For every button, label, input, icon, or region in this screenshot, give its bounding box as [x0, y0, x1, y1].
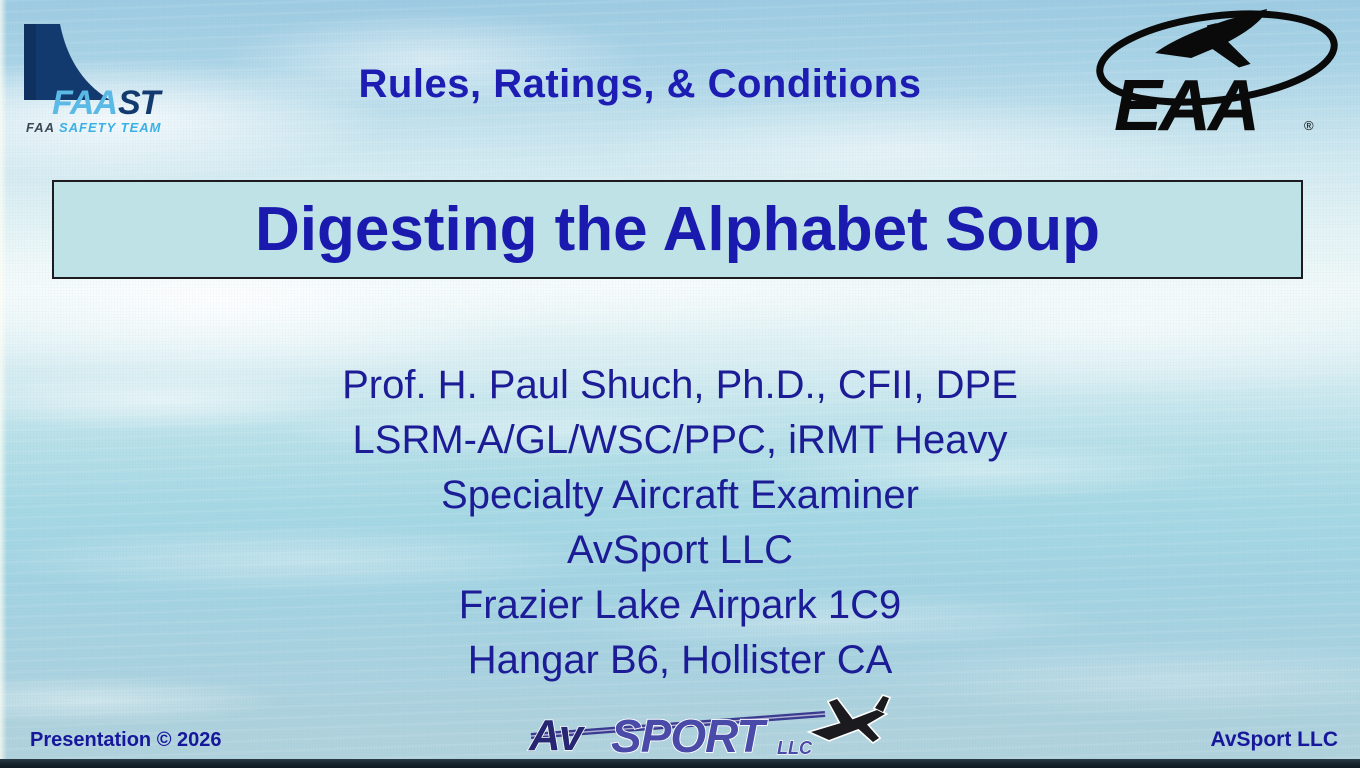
- airplane-icon: [811, 696, 889, 742]
- presenter-line: Frazier Lake Airpark 1C9: [0, 578, 1360, 633]
- svg-text:SAFETY TEAM: SAFETY TEAM: [59, 120, 162, 135]
- main-title: Digesting the Alphabet Soup: [255, 199, 1100, 261]
- avsport-logo: Av SPORT LLC: [525, 692, 915, 762]
- presenter-line: Specialty Aircraft Examiner: [0, 468, 1360, 523]
- svg-text:ST: ST: [118, 84, 164, 122]
- main-title-box: Digesting the Alphabet Soup: [52, 180, 1303, 279]
- presenter-line: Hangar B6, Hollister CA: [0, 633, 1360, 688]
- svg-text:FAA: FAA: [52, 84, 117, 122]
- svg-text:FAA: FAA: [26, 120, 55, 135]
- footer-copyright: Presentation © 2026: [30, 729, 221, 752]
- presenter-details: Prof. H. Paul Shuch, Ph.D., CFII, DPE LS…: [0, 358, 1360, 688]
- svg-text:Av: Av: [528, 711, 586, 760]
- svg-text:LLC: LLC: [777, 738, 813, 758]
- svg-text:EAA: EAA: [1114, 66, 1257, 140]
- faast-logo: FAA ST FAA SAFETY TEAM: [14, 16, 186, 136]
- presenter-line: LSRM-A/GL/WSC/PPC, iRMT Heavy: [0, 413, 1360, 468]
- header-title: Rules, Ratings, & Conditions: [190, 62, 1090, 107]
- eaa-logo: EAA ®: [1086, 6, 1348, 140]
- presentation-slide: FAA ST FAA SAFETY TEAM EAA ® Rule: [0, 0, 1360, 768]
- presenter-line: AvSport LLC: [0, 523, 1360, 578]
- svg-text:®: ®: [1304, 118, 1314, 133]
- presenter-line: Prof. H. Paul Shuch, Ph.D., CFII, DPE: [0, 358, 1360, 413]
- footer-company: AvSport LLC: [1210, 728, 1338, 752]
- svg-text:SPORT: SPORT: [611, 710, 769, 762]
